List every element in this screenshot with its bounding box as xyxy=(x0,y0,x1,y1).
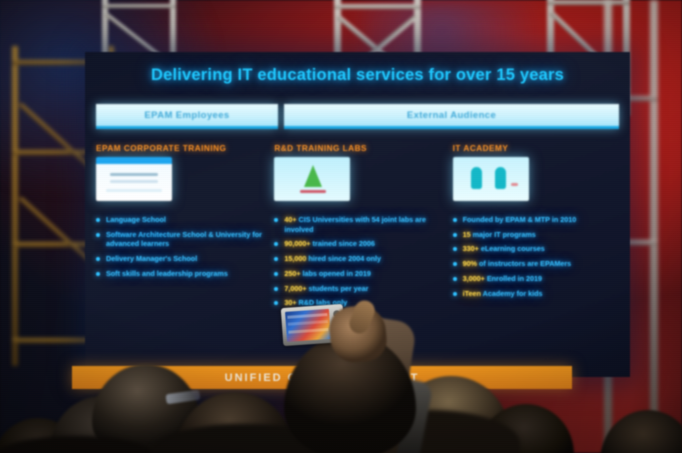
slide-audience-tabs: EPAM Employees External Audience xyxy=(96,104,619,129)
column-it-academy: IT ACADEMY Founded by EPAM & MTP in 2010… xyxy=(453,144,619,355)
tab-external-audience: External Audience xyxy=(284,104,619,129)
list-item: 15 major IT programs xyxy=(453,230,619,240)
column-heading: R&D TRAINING LABS xyxy=(274,144,440,153)
document-slide-thumbnail xyxy=(96,157,172,201)
two-people-thumbnail xyxy=(453,157,529,201)
bullet-list: Founded by EPAM & MTP in 2010 15 major I… xyxy=(453,215,619,298)
list-item: 15,000 hired since 2004 only xyxy=(274,254,440,264)
bullet-list: 40+ CIS Universities with 54 joint labs … xyxy=(274,215,440,308)
slide-title: Delivering IT educational services for o… xyxy=(85,60,630,90)
list-item: 250+ labs opened in 2019 xyxy=(274,269,440,279)
photo-scene: Delivering IT educational services for o… xyxy=(0,0,682,453)
camera-lcd-screen xyxy=(285,309,331,342)
list-item: 40+ CIS Universities with 54 joint labs … xyxy=(274,215,440,234)
list-item: Software Architecture School & Universit… xyxy=(96,230,262,249)
tab-epam-employees: EPAM Employees xyxy=(96,104,278,129)
list-item: Soft skills and leadership programs xyxy=(96,269,262,279)
list-item: Delivery Manager's School xyxy=(96,254,262,264)
list-item: iTeen Academy for kids xyxy=(453,289,619,299)
list-item: 330+ eLearning courses xyxy=(453,244,619,254)
lab-chart-thumbnail xyxy=(274,157,350,201)
list-item: Language School xyxy=(96,215,262,225)
list-item: 3,000+ Enrolled in 2019 xyxy=(453,274,619,284)
list-item: 90% of instructors are EPAMers xyxy=(453,259,619,269)
column-corporate-training: EPAM CORPORATE TRAINING Language School … xyxy=(96,144,262,355)
column-heading: EPAM CORPORATE TRAINING xyxy=(96,144,262,153)
list-item: Founded by EPAM & MTP in 2010 xyxy=(453,215,619,225)
column-heading: IT ACADEMY xyxy=(453,144,619,153)
list-item: 90,000+ trained since 2006 xyxy=(274,239,440,249)
list-item: 7,000+ students per year xyxy=(274,284,440,294)
bullet-list: Language School Software Architecture Sc… xyxy=(96,215,262,279)
